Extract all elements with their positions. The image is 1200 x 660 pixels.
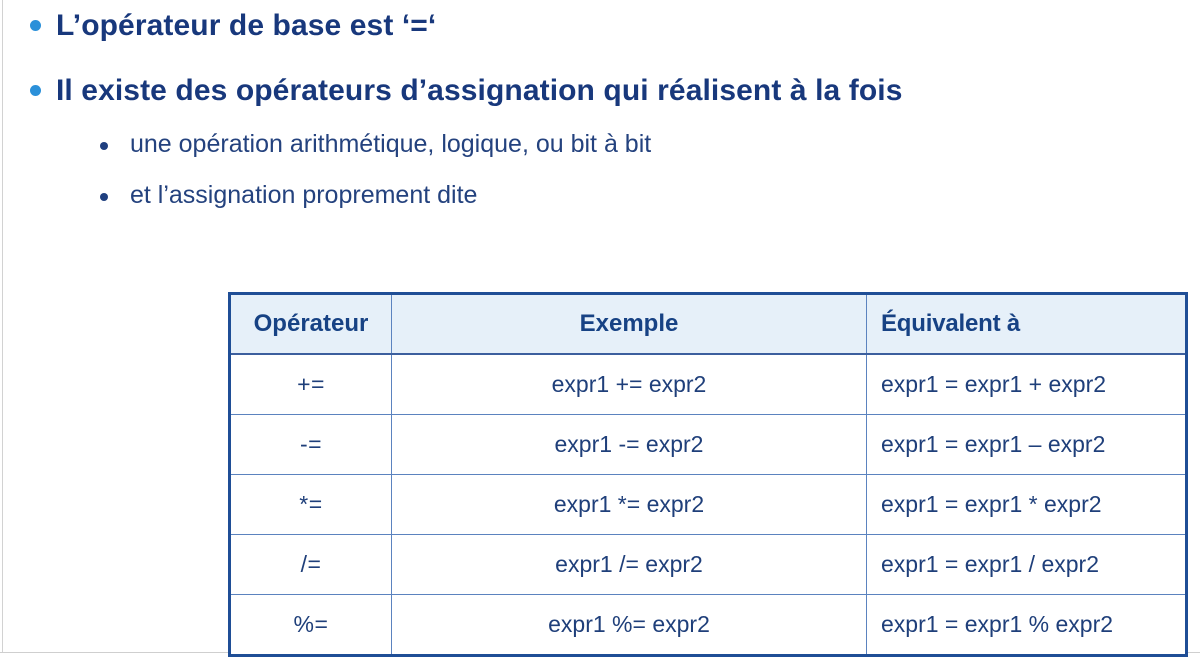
bullet-item-1: L’opérateur de base est ‘=‘ [0,6,1200,46]
cell-operator: %= [230,595,392,656]
bullet-dot-icon [30,85,41,96]
column-header-equivalent: Équivalent à [867,294,1187,355]
cell-operator: += [230,354,392,415]
table-body: += expr1 += expr2 expr1 = expr1 + expr2 … [230,354,1187,656]
assignment-operators-table-container: Opérateur Exemple Équivalent à += expr1 … [228,292,1185,657]
sub-bullet-item-2: et l’assignation proprement dite [0,179,1200,212]
table-row: -= expr1 -= expr2 expr1 = expr1 – expr2 [230,415,1187,475]
table-row: *= expr1 *= expr2 expr1 = expr1 * expr2 [230,475,1187,535]
slide-canvas: L’opérateur de base est ‘=‘ Il existe de… [0,0,1200,660]
cell-example: expr1 /= expr2 [392,535,867,595]
cell-equivalent: expr1 = expr1 – expr2 [867,415,1187,475]
bullet-list: L’opérateur de base est ‘=‘ Il existe de… [0,0,1200,211]
bullet-item-2: Il existe des opérateurs d’assignation q… [0,71,1200,111]
sub-bullet-dot-icon [100,193,108,201]
table-row: += expr1 += expr2 expr1 = expr1 + expr2 [230,354,1187,415]
sub-bullet-item-1: une opération arithmétique, logique, ou … [0,128,1200,161]
cell-example: expr1 += expr2 [392,354,867,415]
bullet-item-2-label: Il existe des opérateurs d’assignation q… [56,71,902,111]
sub-bullet-item-1-label: une opération arithmétique, logique, ou … [130,128,651,161]
cell-equivalent: expr1 = expr1 + expr2 [867,354,1187,415]
column-header-operateur: Opérateur [230,294,392,355]
assignment-operators-table: Opérateur Exemple Équivalent à += expr1 … [228,292,1188,657]
sub-bullet-dot-icon [100,142,108,150]
bullet-dot-icon [30,20,41,31]
table-header: Opérateur Exemple Équivalent à [230,294,1187,355]
cell-equivalent: expr1 = expr1 % expr2 [867,595,1187,656]
cell-equivalent: expr1 = expr1 * expr2 [867,475,1187,535]
cell-operator: /= [230,535,392,595]
cell-operator: -= [230,415,392,475]
cell-example: expr1 *= expr2 [392,475,867,535]
table-row: %= expr1 %= expr2 expr1 = expr1 % expr2 [230,595,1187,656]
bullet-item-1-label: L’opérateur de base est ‘=‘ [56,6,436,46]
column-header-exemple: Exemple [392,294,867,355]
sub-bullet-item-2-label: et l’assignation proprement dite [130,179,477,212]
cell-example: expr1 %= expr2 [392,595,867,656]
table-header-row: Opérateur Exemple Équivalent à [230,294,1187,355]
cell-operator: *= [230,475,392,535]
table-row: /= expr1 /= expr2 expr1 = expr1 / expr2 [230,535,1187,595]
cell-equivalent: expr1 = expr1 / expr2 [867,535,1187,595]
cell-example: expr1 -= expr2 [392,415,867,475]
